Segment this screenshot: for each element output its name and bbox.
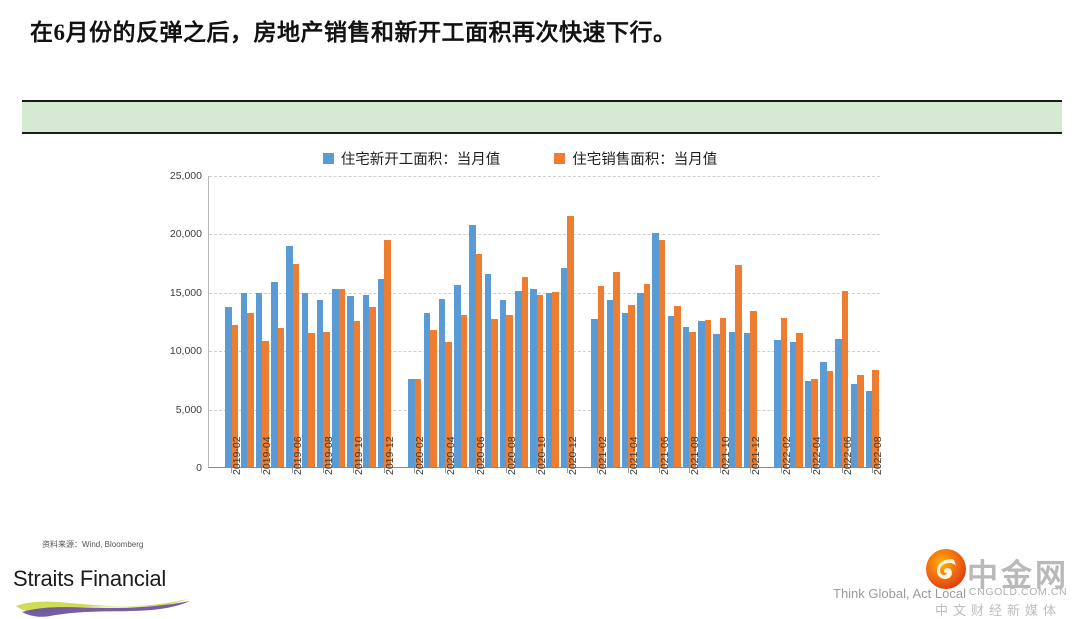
bar-group [804, 176, 819, 467]
legend-item-housing-starts: 住宅新开工面积：当月值 [323, 148, 501, 169]
bar-group [575, 176, 590, 467]
x-axis-tick-label: 2021-02 [597, 436, 609, 475]
bar-group [621, 176, 636, 467]
x-axis-tick: 2019-08 [315, 468, 330, 572]
bar-housing-sales [430, 330, 436, 467]
x-axis-tick: 2022-08 [865, 468, 880, 572]
plot-area: 05,00010,00015,00020,00025,000 2019-0220… [160, 176, 880, 476]
logo-wordmark: Straits Financial [13, 566, 166, 592]
bar-group [240, 176, 255, 467]
bar-housing-sales [796, 333, 802, 467]
x-axis-tick: 2020-12 [559, 468, 574, 572]
bar-housing-sales [247, 313, 253, 467]
bar-group [850, 176, 865, 467]
x-axis-tick-label: 2019-12 [384, 436, 396, 475]
legend-swatch-blue [323, 153, 334, 164]
bar-group [545, 176, 560, 467]
bar-group [865, 176, 880, 467]
y-axis-tick-label: 15,000 [170, 287, 202, 299]
bar-group [423, 176, 438, 467]
x-axis: 2019-022019-042019-062019-082019-102019-… [208, 468, 880, 572]
y-axis-tick-label: 10,000 [170, 345, 202, 357]
bar-housing-sales [659, 240, 665, 467]
x-axis-tick-label: 2020-06 [475, 436, 487, 475]
x-axis-tick: 2019-04 [254, 468, 269, 572]
y-axis-tick-label: 25,000 [170, 170, 202, 182]
bar-group [651, 176, 666, 467]
bar-housing-sales [827, 371, 833, 467]
bar-group [697, 176, 712, 467]
x-axis-tick-label: 2019-06 [292, 436, 304, 475]
x-axis-tick: 2020-06 [468, 468, 483, 572]
bar-housing-sales [339, 289, 345, 467]
x-axis-tick: 2019-10 [345, 468, 360, 572]
bar-group [484, 176, 499, 467]
x-axis-tick: 2019-02 [223, 468, 238, 572]
bar-group [636, 176, 651, 467]
bar-group [682, 176, 697, 467]
x-axis-tick-label: 2019-02 [231, 436, 243, 475]
x-axis-tick-label: 2020-10 [536, 436, 548, 475]
bar-group [606, 176, 621, 467]
chart-legend: 住宅新开工面积：当月值 住宅销售面积：当月值 [160, 145, 880, 171]
chart-container: 住宅新开工面积：当月值 住宅销售面积：当月值 05,00010,00015,00… [160, 140, 880, 540]
plot-canvas [208, 176, 880, 468]
x-axis-tick-label: 2021-12 [750, 436, 762, 475]
bar-housing-sales [369, 307, 375, 467]
bar-housing-sales [735, 265, 741, 467]
bar-group [377, 176, 392, 467]
watermark-subtitle: 中文财经新媒体 [935, 600, 1061, 619]
x-axis-tick: 2021-02 [590, 468, 605, 572]
x-axis-tick-label: 2021-08 [689, 436, 701, 475]
bar-group [392, 176, 407, 467]
bar-group [834, 176, 849, 467]
bar-group [301, 176, 316, 467]
x-axis-tick: 2022-02 [773, 468, 788, 572]
bar-group [743, 176, 758, 467]
x-axis-tick: 2022-04 [804, 468, 819, 572]
legend-label-housing-starts: 住宅新开工面积：当月值 [341, 148, 501, 169]
bar-group [758, 176, 773, 467]
bar-group [728, 176, 743, 467]
x-axis-tick: 2020-02 [407, 468, 422, 572]
bar-group [468, 176, 483, 467]
x-axis-tick-label: 2020-04 [445, 436, 457, 475]
bar-housing-sales [552, 292, 558, 467]
cngold-flame-icon [925, 548, 967, 590]
bar-group [316, 176, 331, 467]
bar-housing-sales [278, 328, 284, 467]
bar-group [407, 176, 422, 467]
bar-group [270, 176, 285, 467]
bar-group [773, 176, 788, 467]
cngold-watermark: 中金网 CNGOLD.COM.CN 中文财经新媒体 [925, 548, 1080, 618]
x-axis-tick: 2019-12 [376, 468, 391, 572]
bar-housing-sales [644, 284, 650, 467]
y-axis-tick-label: 5,000 [176, 404, 202, 416]
bar-group [789, 176, 804, 467]
watermark-url: CNGOLD.COM.CN [969, 586, 1067, 598]
bar-group [209, 176, 224, 467]
logo-swoosh-icon [10, 592, 195, 618]
x-axis-tick: 2020-04 [437, 468, 452, 572]
x-axis-tick: 2021-08 [681, 468, 696, 572]
bar-group [560, 176, 575, 467]
bar-group [285, 176, 300, 467]
x-axis-tick-label: 2021-06 [659, 436, 671, 475]
x-axis-tick: 2021-06 [651, 468, 666, 572]
x-axis-tick: 2020-08 [498, 468, 513, 572]
bar-housing-sales [522, 277, 528, 467]
x-axis-tick-label: 2020-12 [567, 436, 579, 475]
bar-group [346, 176, 361, 467]
bar-group [712, 176, 727, 467]
bar-housing-sales [384, 240, 390, 467]
bar-housing-sales [567, 216, 573, 467]
bar-group [331, 176, 346, 467]
bar-group [667, 176, 682, 467]
bar-group [453, 176, 468, 467]
x-axis-tick-label: 2019-08 [323, 436, 335, 475]
bar-housing-sales [674, 306, 680, 467]
x-axis-tick-label: 2022-06 [842, 436, 854, 475]
bar-housing-sales [857, 375, 863, 467]
bar-group [224, 176, 239, 467]
source-note: 资料来源：Wind, Bloomberg [42, 539, 143, 550]
bar-group [499, 176, 514, 467]
bar-group [590, 176, 605, 467]
green-banner [22, 100, 1062, 134]
bar-group [514, 176, 529, 467]
x-axis-tick: 2021-12 [743, 468, 758, 572]
bar-group [255, 176, 270, 467]
y-axis-tick-label: 0 [196, 462, 202, 474]
x-axis-tick: 2020-10 [529, 468, 544, 572]
x-axis-tick-label: 2020-08 [506, 436, 518, 475]
x-axis-tick-label: 2019-10 [353, 436, 365, 475]
bar-series-group [209, 176, 880, 467]
y-axis-tick-label: 20,000 [170, 228, 202, 240]
bar-housing-sales [461, 315, 467, 467]
x-axis-tick-label: 2021-10 [720, 436, 732, 475]
legend-label-housing-sales: 住宅销售面积：当月值 [572, 148, 717, 169]
x-axis-tick-label: 2022-02 [781, 436, 793, 475]
legend-item-housing-sales: 住宅销售面积：当月值 [554, 148, 717, 169]
x-axis-tick-label: 2019-04 [261, 436, 273, 475]
bar-group [819, 176, 834, 467]
x-axis-tick: 2021-10 [712, 468, 727, 572]
x-axis-tick-label: 2021-04 [628, 436, 640, 475]
x-axis-tick: 2019-06 [284, 468, 299, 572]
page-title: 在6月份的反弹之后，房地产销售和新开工面积再次快速下行。 [30, 10, 1050, 50]
x-axis-tick: 2021-04 [620, 468, 635, 572]
y-axis: 05,00010,00015,00020,00025,000 [160, 176, 208, 468]
x-axis-tick-label: 2022-04 [811, 436, 823, 475]
x-axis-tick-label: 2022-08 [872, 436, 884, 475]
bar-housing-sales [613, 272, 619, 467]
x-axis-tick-label: 2020-02 [414, 436, 426, 475]
bar-housing-sales [308, 333, 314, 467]
x-axis-tick: 2022-06 [834, 468, 849, 572]
bar-group [362, 176, 377, 467]
bar-group [438, 176, 453, 467]
bar-housing-sales [705, 320, 711, 467]
bar-housing-sales [491, 319, 497, 467]
straits-financial-logo: Straits Financial [10, 566, 200, 614]
legend-swatch-orange [554, 153, 565, 164]
bar-group [529, 176, 544, 467]
